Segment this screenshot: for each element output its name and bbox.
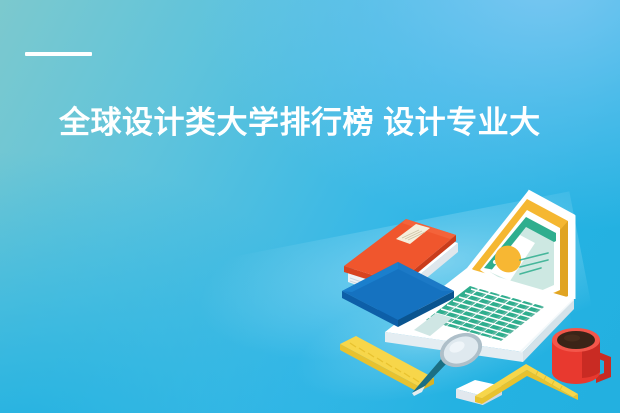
promo-banner: 全球设计类大学排行榜 设计专业大: [0, 0, 620, 413]
coffee-mug-icon: [552, 328, 611, 384]
desk-illustration: [330, 186, 620, 413]
accent-rule: [25, 52, 92, 56]
banner-headline: 全球设计类大学排行榜 设计专业大: [59, 103, 620, 143]
